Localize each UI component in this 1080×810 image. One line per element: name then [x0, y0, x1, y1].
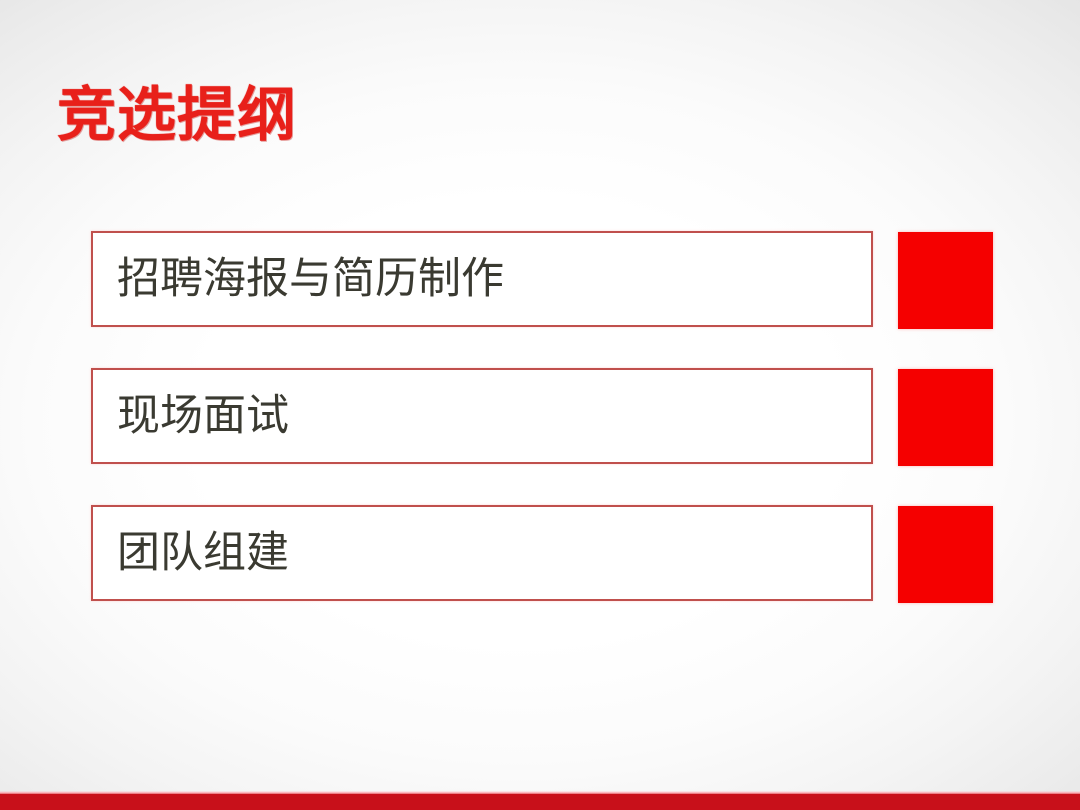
outline-item-box[interactable]: 现场面试: [91, 368, 873, 464]
outline-item-label: 招聘海报与简历制作: [117, 254, 504, 304]
list-item[interactable]: 现场面试: [0, 368, 1080, 464]
red-square-marker: [898, 232, 993, 329]
list-item[interactable]: 团队组建: [0, 505, 1080, 601]
bottom-accent-bar: [0, 794, 1080, 810]
outline-item-box[interactable]: 招聘海报与简历制作: [91, 231, 873, 327]
outline-item-box[interactable]: 团队组建: [91, 505, 873, 601]
page-title: 竞选提纲: [57, 78, 297, 152]
outline-item-label: 团队组建: [117, 528, 289, 578]
red-square-marker: [898, 369, 993, 466]
red-square-marker: [898, 506, 993, 603]
outline-item-label: 现场面试: [117, 391, 289, 441]
presentation-slide: 竞选提纲 招聘海报与简历制作 现场面试 团队组建: [0, 0, 1080, 810]
list-item[interactable]: 招聘海报与简历制作: [0, 231, 1080, 327]
outline-list: 招聘海报与简历制作 现场面试 团队组建: [0, 231, 1080, 601]
